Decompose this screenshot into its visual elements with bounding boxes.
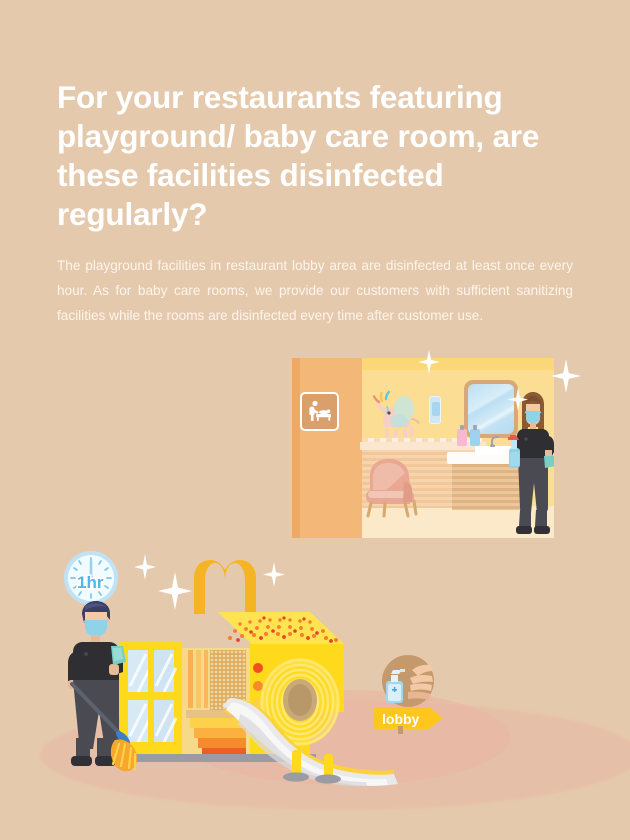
faucet-art: [490, 436, 504, 447]
sparkle-decoration: [508, 388, 528, 411]
poster-page: For your restaurants featuring playgroun…: [0, 0, 630, 840]
room-wall-left: [292, 358, 362, 538]
staff-male-art: [65, 598, 127, 770]
sparkle-decoration: [551, 359, 581, 393]
sparkle-decoration: [134, 554, 156, 580]
sparkle-decoration: [263, 562, 285, 587]
lobby-sign-label: lobby: [382, 711, 420, 727]
baby-changing-pictogram: [305, 397, 335, 427]
clock-badge-label: 1hr: [77, 573, 104, 592]
staff-female-art: [508, 390, 554, 538]
body-paragraph: The playground facilities in restaurant …: [57, 253, 573, 328]
sparkle-decoration: [158, 572, 192, 610]
text-block: For your restaurants featuring playgroun…: [57, 78, 577, 328]
baby-care-room-illustration: [292, 358, 554, 538]
playground-illustration: 1hr: [52, 546, 457, 786]
baby-changing-sign-icon: [300, 392, 339, 431]
sparkle-decoration: [418, 350, 440, 374]
page-title: For your restaurants featuring playgroun…: [57, 78, 577, 234]
lobby-sign-art: lobby: [368, 654, 448, 732]
armchair: [360, 452, 426, 518]
room-ceiling-band: [362, 358, 554, 370]
wall-sanitizer-dispenser: [429, 396, 441, 424]
lobby-direction-sign: lobby: [368, 654, 448, 732]
faucet-icon: [490, 436, 504, 447]
armchair-art: [360, 452, 426, 518]
elephant-decal-art: [366, 383, 428, 445]
room-wall-edge: [292, 358, 300, 538]
soap-bottle-pink: [457, 429, 467, 446]
elephant-wall-decal: [366, 383, 428, 445]
staff-member-female: [508, 390, 554, 538]
staff-member-male: [65, 598, 127, 770]
soap-bottle-blue: [470, 429, 480, 446]
